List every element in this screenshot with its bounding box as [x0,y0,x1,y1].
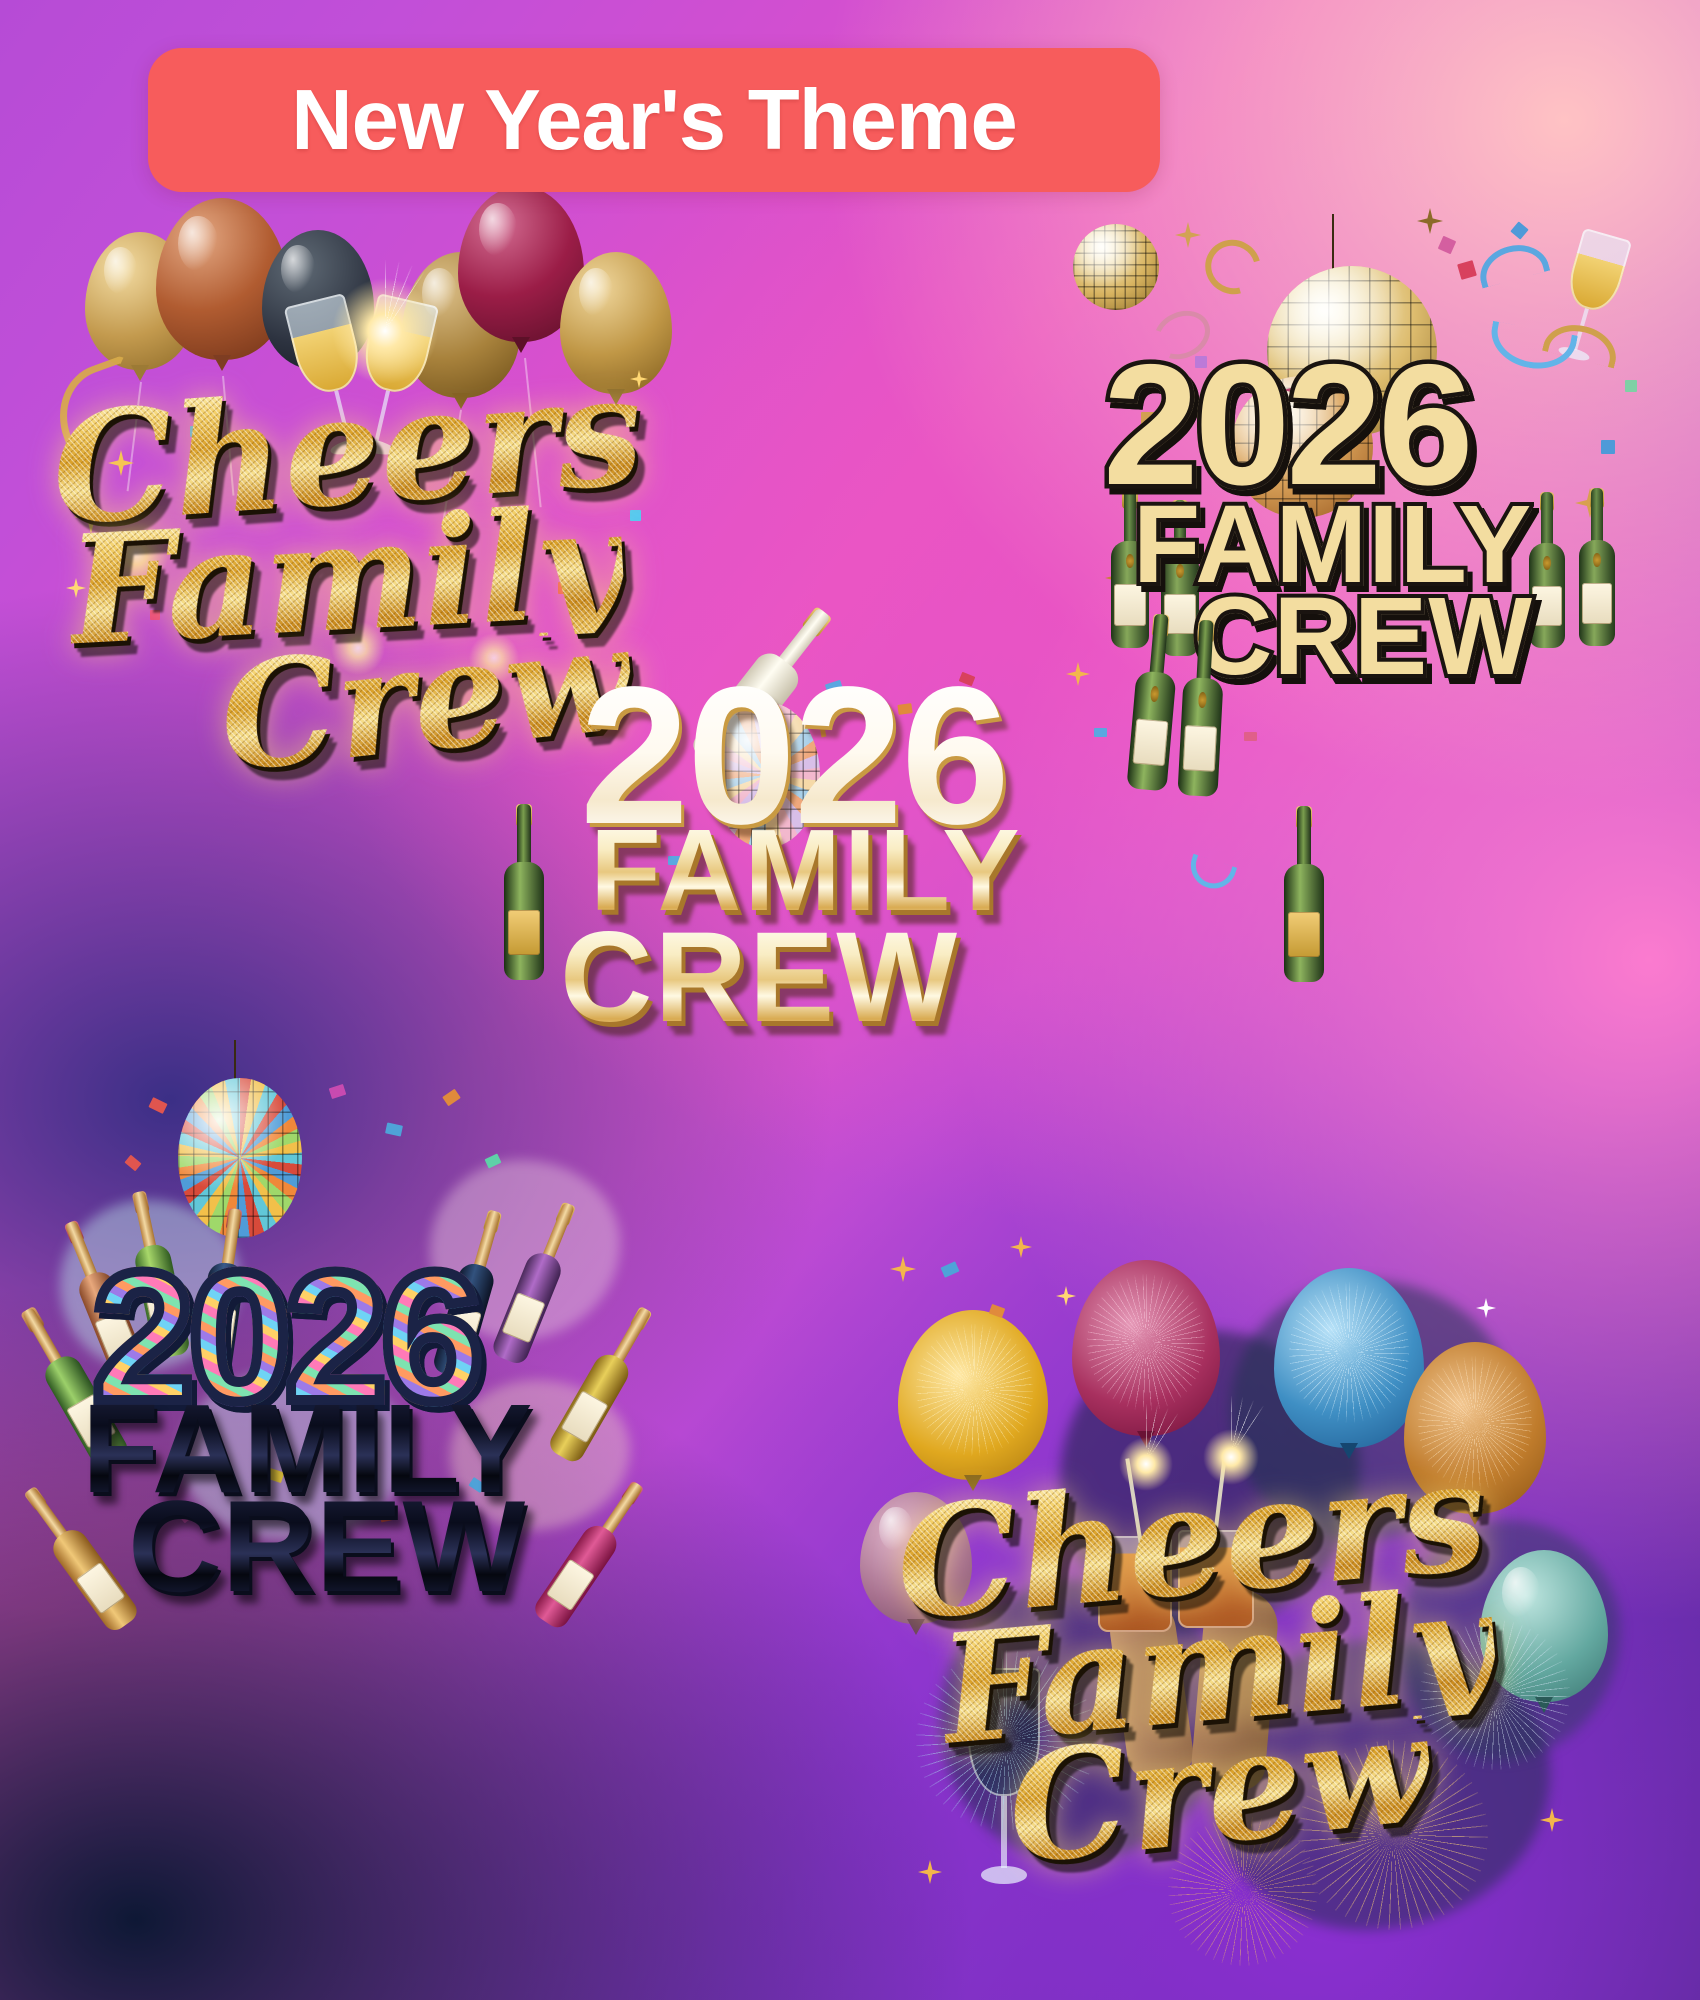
balloon-gloss [104,247,137,294]
confetti-piece [1510,221,1528,239]
bottle-neck [1541,492,1553,548]
design3-line-crew: CREW [560,920,959,1035]
confetti-piece [940,1261,959,1278]
design-2026-cream-center[interactable]: 2026 FAMILY CREW [630,610,1270,1010]
design1-line-crew: Crew [214,611,637,788]
balloon-gloss [479,203,517,256]
bottle-label [1532,586,1562,627]
firework-icon [916,1324,1033,1457]
streamer-blue [1185,854,1237,895]
flute-bowl [1563,228,1632,315]
new-years-theme-banner: New Year's Theme [148,48,1160,192]
star-confetti [1540,1808,1564,1832]
champagne-bottle [500,804,548,980]
balloon-gloss [579,268,613,316]
champagne-bottle [1173,619,1230,797]
bottle-neck [517,804,530,867]
design5-line-crew: Crew [1002,1698,1437,1879]
disco-ball-cord [1332,214,1334,270]
star-confetti [918,1860,942,1884]
firework-icon [1087,1274,1205,1411]
disco-ball-cord [234,1040,236,1080]
balloon-gloss [1502,1567,1540,1619]
bottle-neck [1297,806,1310,869]
balloon-gloss [281,245,315,293]
design-2026-discoball-pink[interactable]: 2026 FAMILY CREW [1045,200,1665,660]
star-confetti [1066,662,1090,686]
bottle-neck [1197,620,1214,684]
bottle-label [508,910,541,956]
star-confetti [890,1256,916,1282]
balloon-firework-gold [898,1310,1048,1480]
confetti-piece [442,1089,461,1107]
disco-shine [1073,224,1159,310]
confetti-piece [329,1084,347,1099]
bottle-label [1182,725,1217,772]
star-confetti [1175,222,1201,248]
confetti-piece [385,1122,403,1136]
confetti-piece [124,1155,141,1172]
star-confetti [1056,1286,1076,1306]
star-confetti [1010,1236,1032,1258]
balloon-gloss [178,216,218,271]
design-cheers-fireworks[interactable]: Cheers Family Crew [880,1220,1640,1980]
confetti-piece [1457,260,1477,280]
confetti-piece [148,1097,167,1114]
confetti-piece [1438,236,1456,254]
bottle-label [1288,912,1321,958]
bottle-medal [1593,553,1601,567]
banner-title: New Year's Theme [291,78,1017,163]
streamer-gold [1195,230,1270,305]
champagne-bottle [1575,488,1619,646]
bottle-label [1132,718,1168,766]
disco-ball-small-icon [1073,224,1159,310]
design-2026-watercolor-dark[interactable]: 2026 FAMILY CREW [30,1040,670,1560]
confetti-piece [1244,732,1257,741]
firework-icon [1289,1282,1409,1422]
confetti-piece [1094,728,1107,737]
bottle-label [1582,583,1612,624]
streamer-blue [1474,238,1550,289]
star-confetti [1417,208,1443,234]
design2-line-2026: 2026 [1103,346,1470,504]
bottle-neck [1591,488,1603,545]
design4-line-crew: CREW [128,1488,525,1605]
star-confetti [1476,1298,1496,1318]
confetti-piece [1625,380,1637,392]
champagne-bottle [1280,806,1328,982]
confetti-piece [1601,440,1615,454]
bottle-medal [1543,556,1551,570]
